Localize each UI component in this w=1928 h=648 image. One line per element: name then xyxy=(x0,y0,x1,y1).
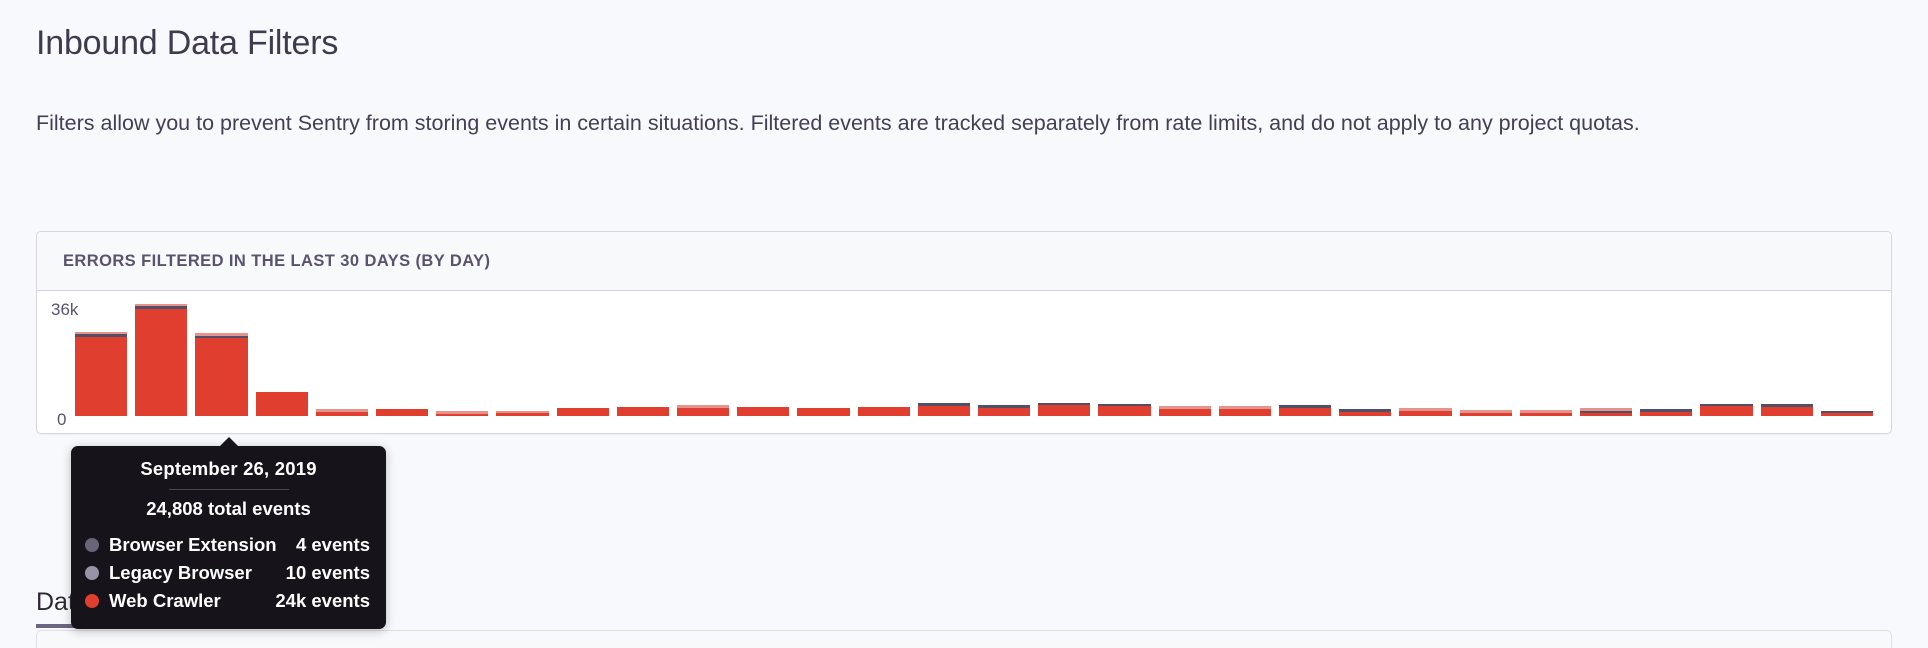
data-filters-panel xyxy=(36,630,1892,648)
chart-bar-segment xyxy=(1219,409,1271,416)
tooltip-row: Legacy Browser10 events xyxy=(71,559,386,587)
tooltip-date: September 26, 2019 xyxy=(71,458,386,489)
chart-bar-segment xyxy=(918,406,970,416)
chart-bar-segment xyxy=(978,408,1030,416)
tooltip-row-label: Legacy Browser xyxy=(109,562,252,584)
chart-bar-segment xyxy=(1761,407,1813,416)
series-color-dot-icon xyxy=(85,594,99,608)
chart-bar-segment xyxy=(1279,408,1331,416)
chart-bar[interactable] xyxy=(432,301,492,416)
chart-bar[interactable] xyxy=(673,301,733,416)
chart-tooltip: September 26, 2019 24,808 total events B… xyxy=(71,446,386,629)
chart-bar[interactable] xyxy=(553,301,613,416)
tooltip-row-label: Web Crawler xyxy=(109,590,221,612)
chart-bar-segment xyxy=(1700,406,1752,416)
chart-panel-body: 36k 0 xyxy=(37,291,1891,433)
chart-bar[interactable] xyxy=(1696,301,1756,416)
chart-bar-segment xyxy=(737,407,789,416)
chart-bar-segment xyxy=(496,413,548,416)
chart-bar[interactable] xyxy=(1155,301,1215,416)
chart-bar-segment xyxy=(256,392,308,416)
tooltip-divider xyxy=(169,489,289,490)
chart-bar[interactable] xyxy=(492,301,552,416)
chart-bar[interactable] xyxy=(914,301,974,416)
bar-chart-plot-area[interactable] xyxy=(71,301,1877,416)
chart-bar-segment xyxy=(1580,413,1632,416)
tooltip-row-count: 4 events xyxy=(296,534,370,556)
chart-bar-segment xyxy=(75,337,127,416)
errors-filtered-chart-panel: ERRORS FILTERED IN THE LAST 30 DAYS (BY … xyxy=(36,231,1892,434)
tooltip-row-count: 10 events xyxy=(286,562,370,584)
y-axis-zero-label: 0 xyxy=(57,411,66,428)
chart-bar[interactable] xyxy=(1757,301,1817,416)
tooltip-row-count: 24k events xyxy=(275,590,370,612)
chart-bar-segment xyxy=(1339,412,1391,416)
chart-bar[interactable] xyxy=(1817,301,1877,416)
chart-bar[interactable] xyxy=(1034,301,1094,416)
chart-bar[interactable] xyxy=(733,301,793,416)
chart-bar-segment xyxy=(195,338,247,416)
tooltip-total-events: 24,808 total events xyxy=(71,498,386,531)
chart-bar[interactable] xyxy=(1395,301,1455,416)
chart-bar[interactable] xyxy=(974,301,1034,416)
inbound-data-filters-page: Inbound Data Filters Filters allow you t… xyxy=(0,0,1928,648)
chart-bar[interactable] xyxy=(1636,301,1696,416)
series-color-dot-icon xyxy=(85,538,99,552)
chart-bar[interactable] xyxy=(71,301,131,416)
chart-bar[interactable] xyxy=(131,301,191,416)
chart-bar[interactable] xyxy=(1215,301,1275,416)
chart-bar-segment xyxy=(1640,412,1692,416)
chart-bar-segment xyxy=(1821,413,1873,416)
page-intro-text: Filters allow you to prevent Sentry from… xyxy=(36,65,1892,139)
page-title: Inbound Data Filters xyxy=(36,0,1892,65)
chart-bar-segment xyxy=(617,407,669,416)
tooltip-row: Browser Extension4 events xyxy=(71,531,386,559)
chart-bar-segment xyxy=(858,407,910,416)
chart-bar-segment xyxy=(135,309,187,416)
chart-bar[interactable] xyxy=(1335,301,1395,416)
chart-bar[interactable] xyxy=(312,301,372,416)
chart-bar[interactable] xyxy=(1576,301,1636,416)
tooltip-arrow-icon xyxy=(219,437,239,447)
chart-bar[interactable] xyxy=(1275,301,1335,416)
chart-bar-segment xyxy=(1399,411,1451,416)
tooltip-row: Web Crawler24k events xyxy=(71,587,386,615)
tooltip-breakdown-list: Browser Extension4 eventsLegacy Browser1… xyxy=(71,531,386,615)
chart-bar-segment xyxy=(797,408,849,416)
chart-bar-segment xyxy=(1520,413,1572,416)
chart-bar-segment xyxy=(436,414,488,417)
chart-bar[interactable] xyxy=(252,301,312,416)
chart-bar[interactable] xyxy=(1094,301,1154,416)
chart-bar-segment xyxy=(1460,413,1512,417)
series-color-dot-icon xyxy=(85,566,99,580)
chart-bar[interactable] xyxy=(793,301,853,416)
chart-panel-title: ERRORS FILTERED IN THE LAST 30 DAYS (BY … xyxy=(63,252,490,270)
chart-bar-segment xyxy=(1038,405,1090,416)
chart-bar-segment xyxy=(677,408,729,416)
chart-panel-header: ERRORS FILTERED IN THE LAST 30 DAYS (BY … xyxy=(37,232,1891,291)
chart-bar-segment xyxy=(557,408,609,416)
tooltip-row-label: Browser Extension xyxy=(109,534,277,556)
chart-bar[interactable] xyxy=(1456,301,1516,416)
chart-bar[interactable] xyxy=(372,301,432,416)
chart-bar-segment xyxy=(1098,406,1150,416)
chart-bar-segment xyxy=(316,412,368,416)
chart-bar-segment xyxy=(376,409,428,416)
chart-bar-segment xyxy=(1159,409,1211,416)
chart-bar[interactable] xyxy=(191,301,251,416)
chart-bar[interactable] xyxy=(854,301,914,416)
chart-bar[interactable] xyxy=(1516,301,1576,416)
chart-bar[interactable] xyxy=(613,301,673,416)
